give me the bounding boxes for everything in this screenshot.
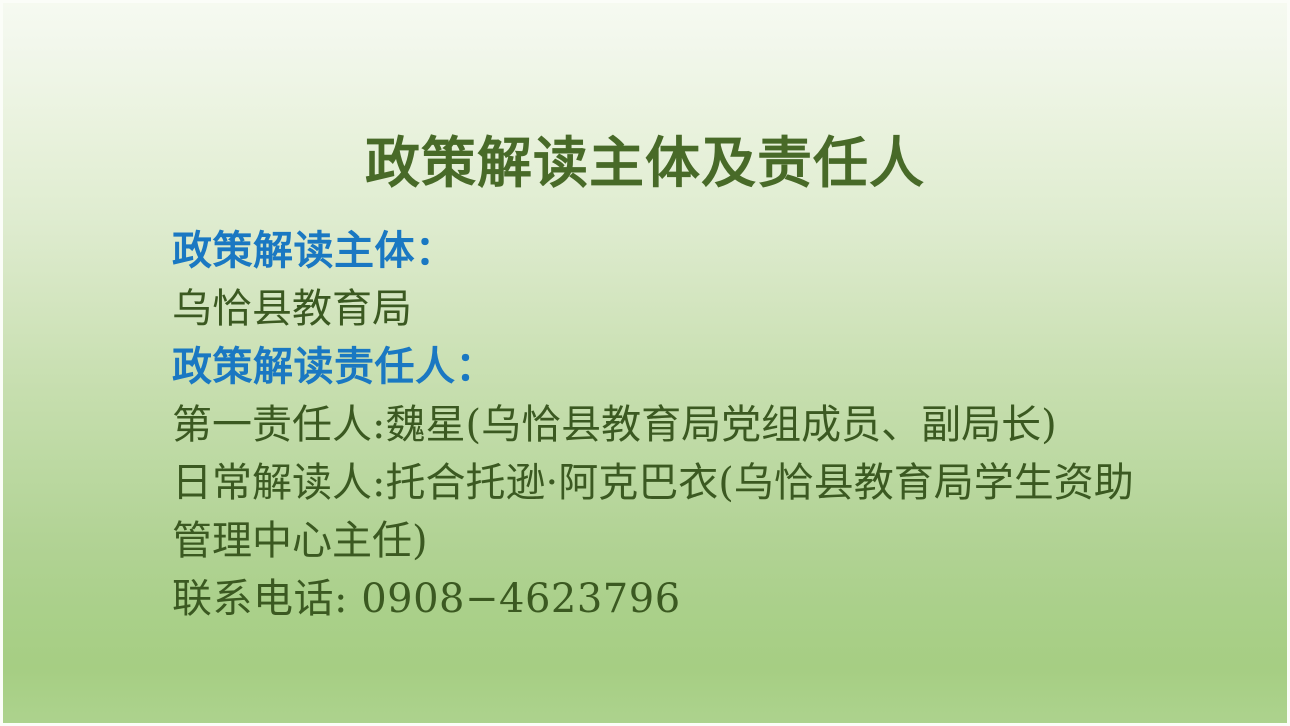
slide-body-content: 政策解读主体： 乌恰县教育局 政策解读责任人： 第一责任人:魏星(乌恰县教育局党… [172,222,1172,628]
policy-interpretation-slide: 政策解读主体及责任人 政策解读主体： 乌恰县教育局 政策解读责任人： 第一责任人… [0,0,1290,726]
first-responsible-person: 第一责任人:魏星(乌恰县教育局党组成员、副局长) [172,396,1172,454]
subject-heading: 政策解读主体： [172,222,1172,280]
page-title: 政策解读主体及责任人 [0,131,1290,196]
daily-interpreter: 日常解读人:托合托逊·阿克巴衣(乌恰县教育局学生资助管理中心主任) [172,454,1157,570]
contact-phone: 联系电话: 0908−4623796 [172,570,1172,628]
subject-value: 乌恰县教育局 [172,280,1172,338]
responsible-person-heading: 政策解读责任人： [172,338,1172,396]
